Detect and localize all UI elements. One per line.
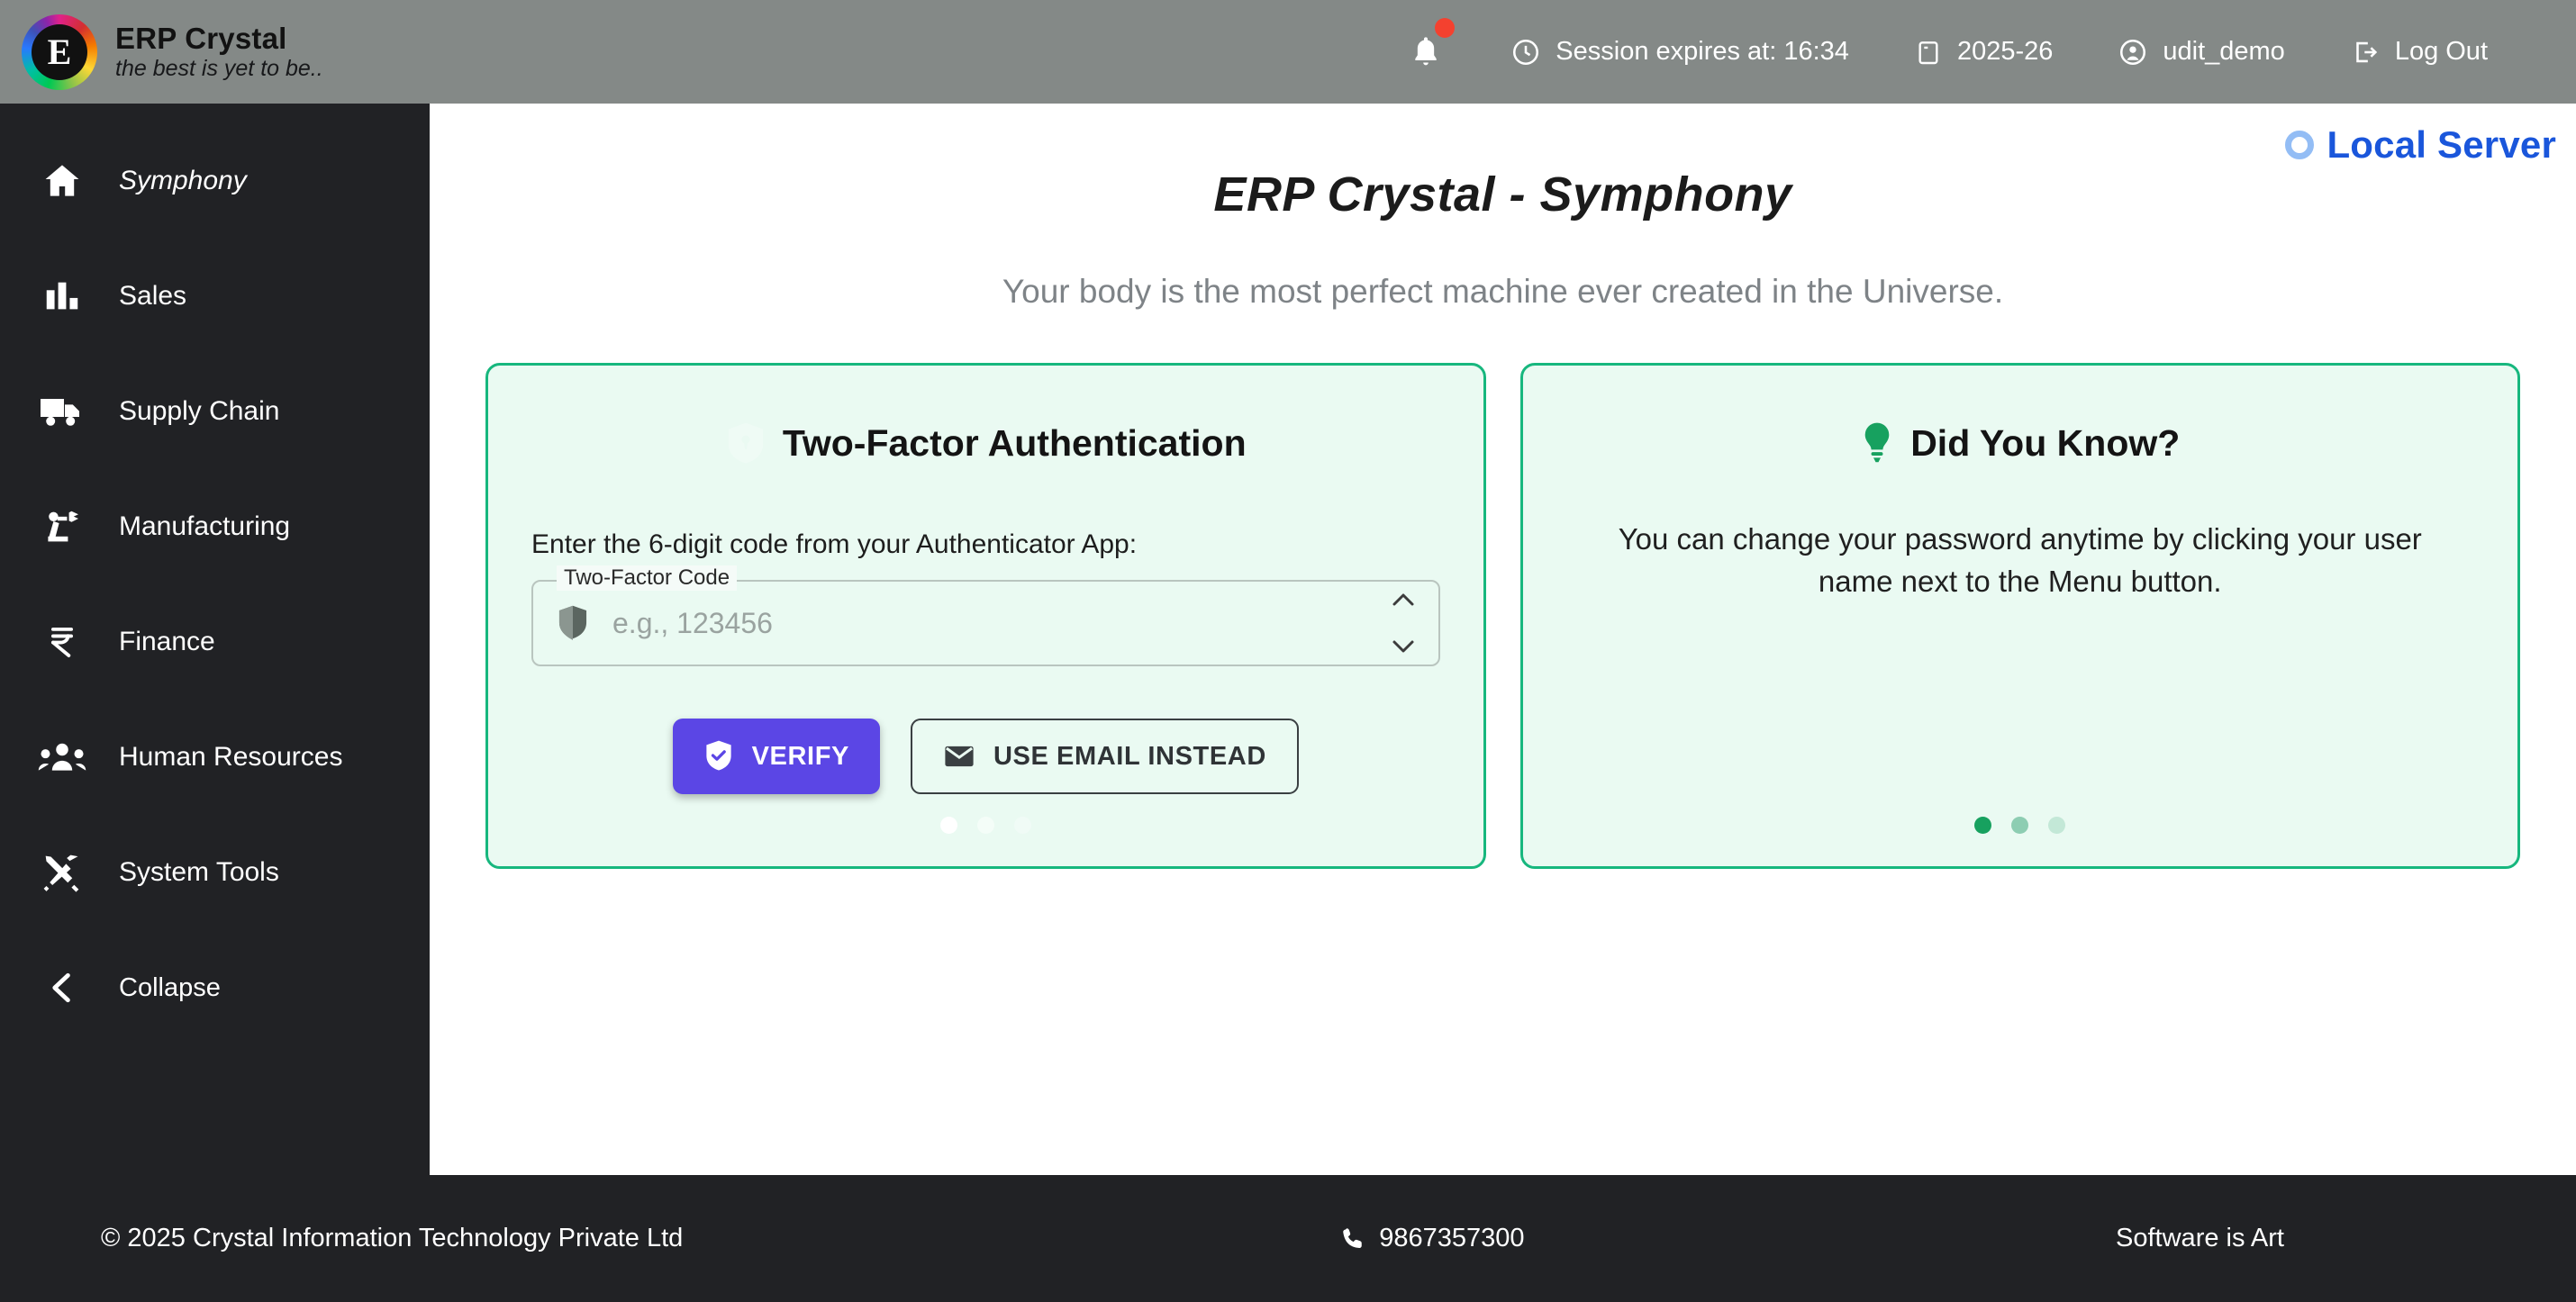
robot-arm-icon <box>36 505 88 548</box>
did-you-know-card: Did You Know? You can change your passwo… <box>1520 363 2521 869</box>
fiscal-year-item[interactable]: 2025-26 <box>1882 37 2085 68</box>
two-factor-actions: VERIFY USE EMAIL INSTEAD <box>531 719 1440 794</box>
user-circle-icon <box>2118 37 2148 68</box>
two-factor-legend: Two-Factor Code <box>557 565 737 591</box>
carousel-dot[interactable] <box>2048 817 2065 834</box>
sidebar-label-sales: Sales <box>119 281 186 312</box>
shield-keyhole-icon <box>725 420 766 466</box>
logout-icon <box>2350 37 2381 68</box>
notification-badge <box>1435 18 1455 38</box>
content-inner: Local Server ERP Crystal - Symphony Your… <box>430 104 2576 869</box>
tools-icon <box>36 850 88 895</box>
calendar-icon <box>1914 37 1943 68</box>
session-expiry-label: Session expires at: 16:34 <box>1556 37 1849 67</box>
session-expiry-item[interactable]: Session expires at: 16:34 <box>1478 37 1882 68</box>
server-status-label: Local Server <box>2327 123 2556 167</box>
crystal-logo-icon: E <box>22 14 97 90</box>
verify-button[interactable]: VERIFY <box>673 719 880 794</box>
sidebar-item-finance[interactable]: Finance <box>0 604 430 680</box>
carousel-dot[interactable] <box>977 817 994 834</box>
page-subtitle: Your body is the most perfect machine ev… <box>480 273 2526 311</box>
envelope-icon <box>943 743 975 770</box>
nav-spacer <box>0 449 430 489</box>
carousel-dot[interactable] <box>2011 817 2028 834</box>
nav-spacer <box>0 795 430 835</box>
two-factor-input-group[interactable]: Two-Factor Code <box>531 580 1440 666</box>
main-content: Local Server ERP Crystal - Symphony Your… <box>430 104 2576 1175</box>
sidebar-label-symphony: Symphony <box>119 166 247 196</box>
two-factor-card-title: Two-Factor Authentication <box>531 420 1440 466</box>
brand-logo[interactable]: E ERP Crystal the best is yet to be.. <box>22 14 323 90</box>
footer-phone[interactable]: 9867357300 <box>1339 1224 1524 1253</box>
sidebar-label-finance: Finance <box>119 627 215 657</box>
two-factor-instruction: Enter the 6-digit code from your Authent… <box>531 529 1440 560</box>
shield-icon <box>557 604 589 642</box>
nav-spacer <box>0 565 430 604</box>
server-status-badge[interactable]: Local Server <box>2285 123 2556 167</box>
bell-icon <box>1408 32 1444 72</box>
phone-icon <box>1339 1225 1366 1253</box>
sidebar-item-manufacturing[interactable]: Manufacturing <box>0 489 430 565</box>
did-you-know-title-text: Did You Know? <box>1910 422 2180 465</box>
logo-letter: E <box>32 24 87 80</box>
lightbulb-icon <box>1860 420 1894 466</box>
sidebar-label-manufacturing: Manufacturing <box>119 511 290 542</box>
brand-text: ERP Crystal the best is yet to be.. <box>115 22 323 82</box>
footer-copyright: © 2025 Crystal Information Technology Pr… <box>0 1224 1339 1253</box>
carousel-dot[interactable] <box>940 817 957 834</box>
top-bar: E ERP Crystal the best is yet to be.. <box>0 0 2576 104</box>
sidebar-collapse-label: Collapse <box>119 973 221 1003</box>
two-factor-card: Two-Factor Authentication Enter the 6-di… <box>485 363 1486 869</box>
sidebar-item-symphony[interactable]: Symphony <box>0 143 430 219</box>
rupee-icon <box>36 620 88 664</box>
shield-check-icon <box>703 739 734 773</box>
number-spinner[interactable] <box>1390 590 1417 656</box>
home-icon <box>36 159 88 203</box>
people-group-icon <box>36 737 88 777</box>
truck-icon <box>36 391 88 432</box>
did-you-know-body: You can change your password anytime by … <box>1566 519 2475 603</box>
sidebar-item-supply-chain[interactable]: Supply Chain <box>0 374 430 449</box>
brand-tagline: the best is yet to be.. <box>115 56 323 82</box>
nav-spacer <box>0 680 430 719</box>
bar-chart-icon <box>36 276 88 317</box>
sidebar-item-system-tools[interactable]: System Tools <box>0 835 430 910</box>
brand-title: ERP Crystal <box>115 22 323 56</box>
nav-spacer <box>0 219 430 258</box>
sidebar-item-human-resources[interactable]: Human Resources <box>0 719 430 795</box>
sidebar-item-sales[interactable]: Sales <box>0 258 430 334</box>
logout-label: Log Out <box>2395 37 2488 67</box>
notifications-button[interactable] <box>1386 32 1478 72</box>
sidebar-collapse-button[interactable]: Collapse <box>0 950 430 1026</box>
sidebar-label-supply-chain: Supply Chain <box>119 396 279 427</box>
footer-phone-label: 9867357300 <box>1379 1224 1524 1253</box>
nav-spacer <box>0 334 430 374</box>
circle-ring-icon <box>2285 131 2314 159</box>
chevron-left-icon <box>36 966 88 1009</box>
app-root: E ERP Crystal the best is yet to be.. <box>0 0 2576 1302</box>
verify-button-label: VERIFY <box>752 742 849 772</box>
sidebar: Symphony Sales <box>0 104 430 1175</box>
carousel-dot[interactable] <box>1014 817 1031 834</box>
carousel-dot[interactable] <box>1974 817 1991 834</box>
footer-slogan: Software is Art <box>2116 1224 2576 1253</box>
user-name-label: udit_demo <box>2163 37 2284 67</box>
sidebar-label-system-tools: System Tools <box>119 857 279 888</box>
clock-icon <box>1510 37 1541 68</box>
two-factor-carousel-dots[interactable] <box>488 817 1483 834</box>
sidebar-label-human-resources: Human Resources <box>119 742 342 773</box>
page-title: ERP Crystal - Symphony <box>480 167 2526 222</box>
logout-item[interactable]: Log Out <box>2317 37 2520 68</box>
body-row: Symphony Sales <box>0 104 2576 1175</box>
footer: © 2025 Crystal Information Technology Pr… <box>0 1175 2576 1302</box>
use-email-instead-button[interactable]: USE EMAIL INSTEAD <box>911 719 1299 794</box>
cards-row: Two-Factor Authentication Enter the 6-di… <box>480 363 2526 869</box>
top-bar-actions: Session expires at: 16:34 2025-26 u <box>1386 32 2520 72</box>
use-email-button-label: USE EMAIL INSTEAD <box>993 742 1266 772</box>
user-menu-item[interactable]: udit_demo <box>2085 37 2317 68</box>
did-you-know-card-title: Did You Know? <box>1566 420 2475 466</box>
spinner-down-icon[interactable] <box>1390 637 1417 656</box>
two-factor-title-text: Two-Factor Authentication <box>783 422 1247 465</box>
fiscal-year-label: 2025-26 <box>1957 37 2053 67</box>
did-you-know-carousel-dots[interactable] <box>1523 817 2518 834</box>
two-factor-code-input[interactable] <box>612 607 1379 640</box>
spinner-up-icon[interactable] <box>1390 590 1417 610</box>
